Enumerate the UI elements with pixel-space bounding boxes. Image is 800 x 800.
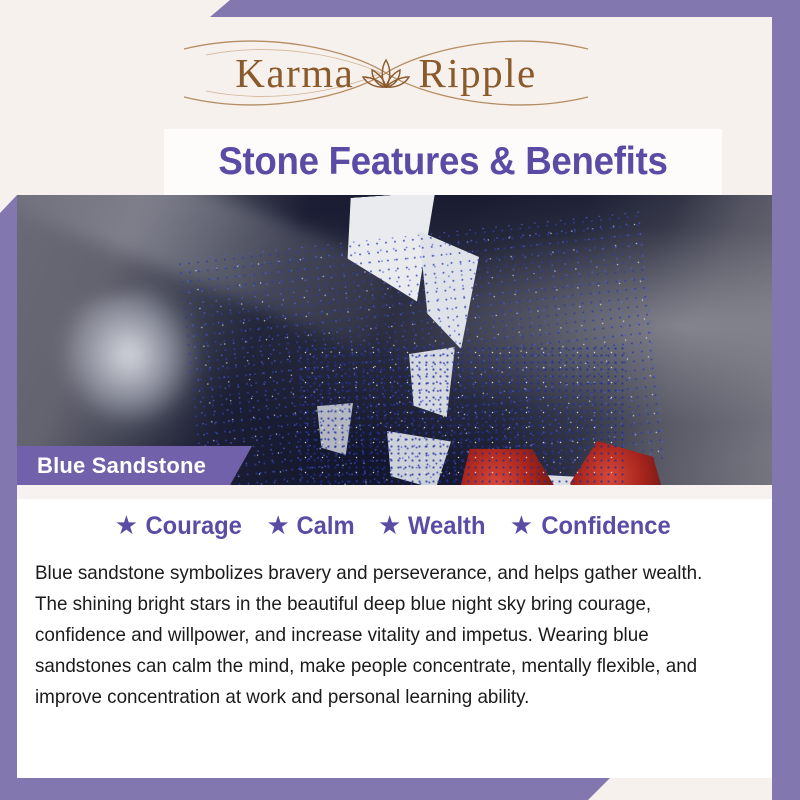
benefit-label: Courage (146, 512, 242, 541)
stone-photo (17, 195, 772, 485)
frame-bottom-bar (0, 778, 610, 800)
star-icon: ★ (115, 512, 138, 538)
content-panel: ★ Courage ★ Calm ★ Wealth ★ Confidence B… (17, 485, 772, 778)
benefit-label: Calm (296, 512, 354, 541)
lotus-icon (360, 53, 412, 93)
star-icon: ★ (510, 512, 533, 538)
photo-vignette (17, 195, 772, 485)
brand-word-karma: Karma (235, 53, 354, 94)
infographic-page: Karma Ripple (0, 0, 800, 800)
benefit-item-confidence: ★ Confidence (510, 512, 674, 541)
content-top-tint (17, 485, 772, 499)
brand-logo: Karma Ripple (0, 33, 772, 113)
benefit-label: Confidence (541, 512, 670, 541)
stone-name-ribbon: Blue Sandstone (17, 446, 252, 485)
page-title: Stone Features & Benefits (218, 140, 667, 184)
benefit-item-calm: ★ Calm (267, 512, 356, 541)
page-header: Karma Ripple (0, 17, 772, 195)
section-title-band: Stone Features & Benefits (164, 129, 722, 195)
benefit-item-wealth: ★ Wealth (378, 512, 488, 541)
frame-left-bar (0, 195, 17, 800)
description-paragraph: Blue sandstone symbolizes bravery and pe… (35, 558, 736, 713)
frame-top-bar (210, 0, 800, 17)
benefit-label: Wealth (408, 512, 485, 541)
brand-word-ripple: Ripple (418, 53, 536, 94)
stone-name-label: Blue Sandstone (37, 453, 206, 479)
star-icon: ★ (267, 512, 290, 538)
star-icon: ★ (378, 512, 401, 538)
frame-right-bar-lower (772, 490, 800, 800)
benefit-item-courage: ★ Courage (115, 512, 245, 541)
benefits-row: ★ Courage ★ Calm ★ Wealth ★ Confidence (17, 512, 772, 541)
